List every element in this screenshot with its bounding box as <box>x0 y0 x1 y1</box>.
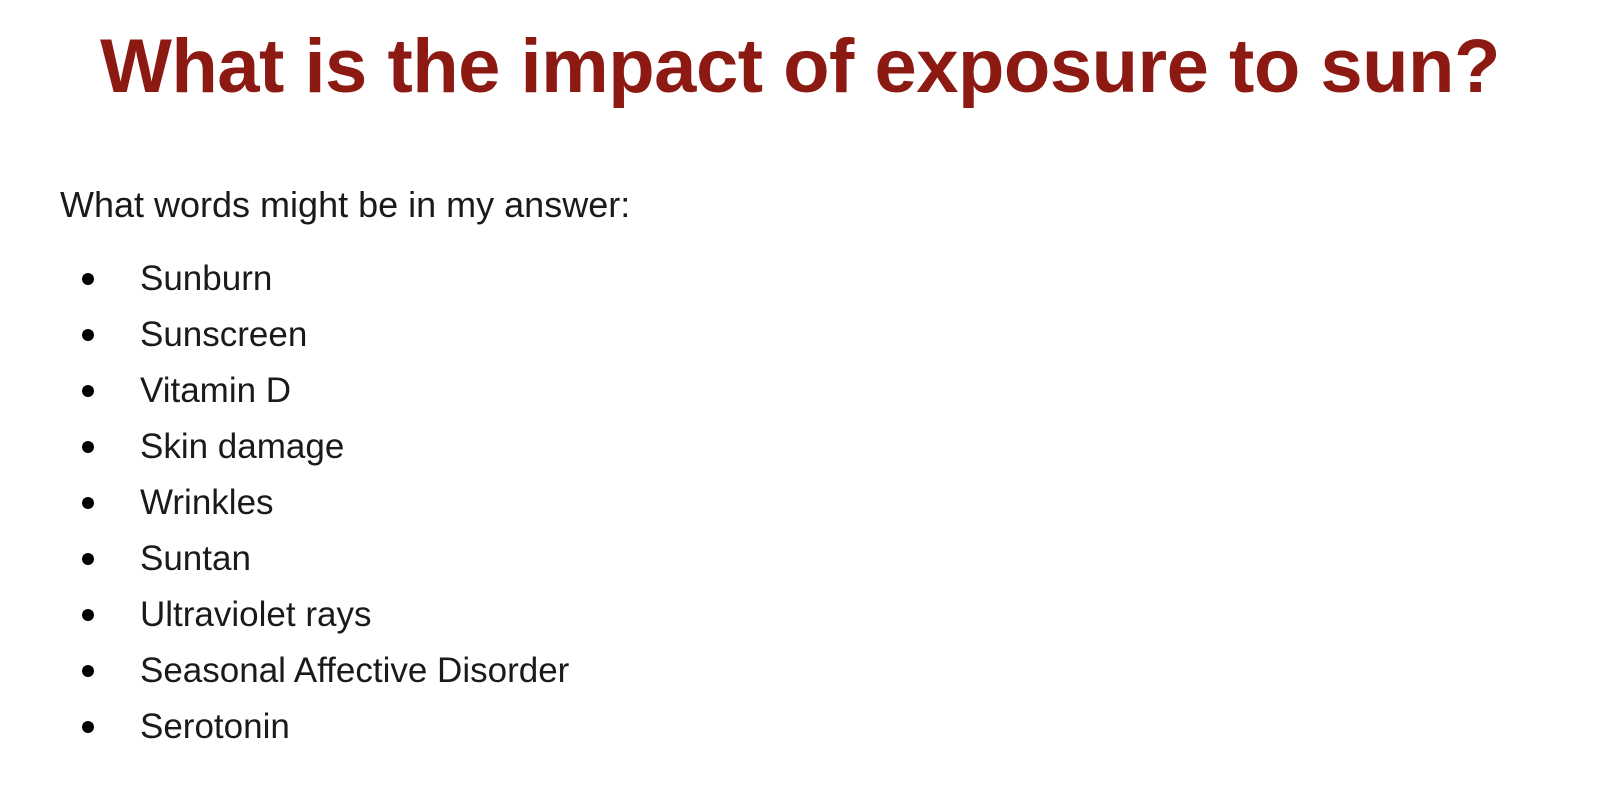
list-item: Sunburn <box>60 251 1540 307</box>
list-item-label: Skin damage <box>140 419 344 475</box>
list-item: Vitamin D <box>60 363 1540 419</box>
bullet-dot-icon <box>82 385 94 397</box>
bullet-dot-icon <box>82 441 94 453</box>
list-item-label: Serotonin <box>140 699 290 755</box>
lead-question-text: What words might be in my answer: <box>60 182 1540 227</box>
list-item: Suntan <box>60 531 1540 587</box>
list-item-label: Seasonal Affective Disorder <box>140 643 569 699</box>
bullet-dot-icon <box>82 665 94 677</box>
answer-word-list: Sunburn Sunscreen Vitamin D Skin damage … <box>60 251 1540 755</box>
list-item: Seasonal Affective Disorder <box>60 643 1540 699</box>
list-item: Ultraviolet rays <box>60 587 1540 643</box>
list-item: Wrinkles <box>60 475 1540 531</box>
bullet-dot-icon <box>82 497 94 509</box>
bullet-dot-icon <box>82 329 94 341</box>
list-item-label: Sunburn <box>140 251 272 307</box>
bullet-dot-icon <box>82 609 94 621</box>
bullet-dot-icon <box>82 553 94 565</box>
list-item-label: Vitamin D <box>140 363 291 419</box>
bullet-dot-icon <box>82 721 94 733</box>
list-item-label: Sunscreen <box>140 307 307 363</box>
list-item: Serotonin <box>60 699 1540 755</box>
list-item-label: Ultraviolet rays <box>140 587 371 643</box>
page-title: What is the impact of exposure to sun? <box>40 26 1560 108</box>
list-item-label: Wrinkles <box>140 475 274 531</box>
slide-body: What words might be in my answer: Sunbur… <box>60 182 1540 755</box>
slide-canvas: What is the impact of exposure to sun? W… <box>0 0 1600 797</box>
list-item: Skin damage <box>60 419 1540 475</box>
list-item-label: Suntan <box>140 531 251 587</box>
bullet-dot-icon <box>82 273 94 285</box>
list-item: Sunscreen <box>60 307 1540 363</box>
